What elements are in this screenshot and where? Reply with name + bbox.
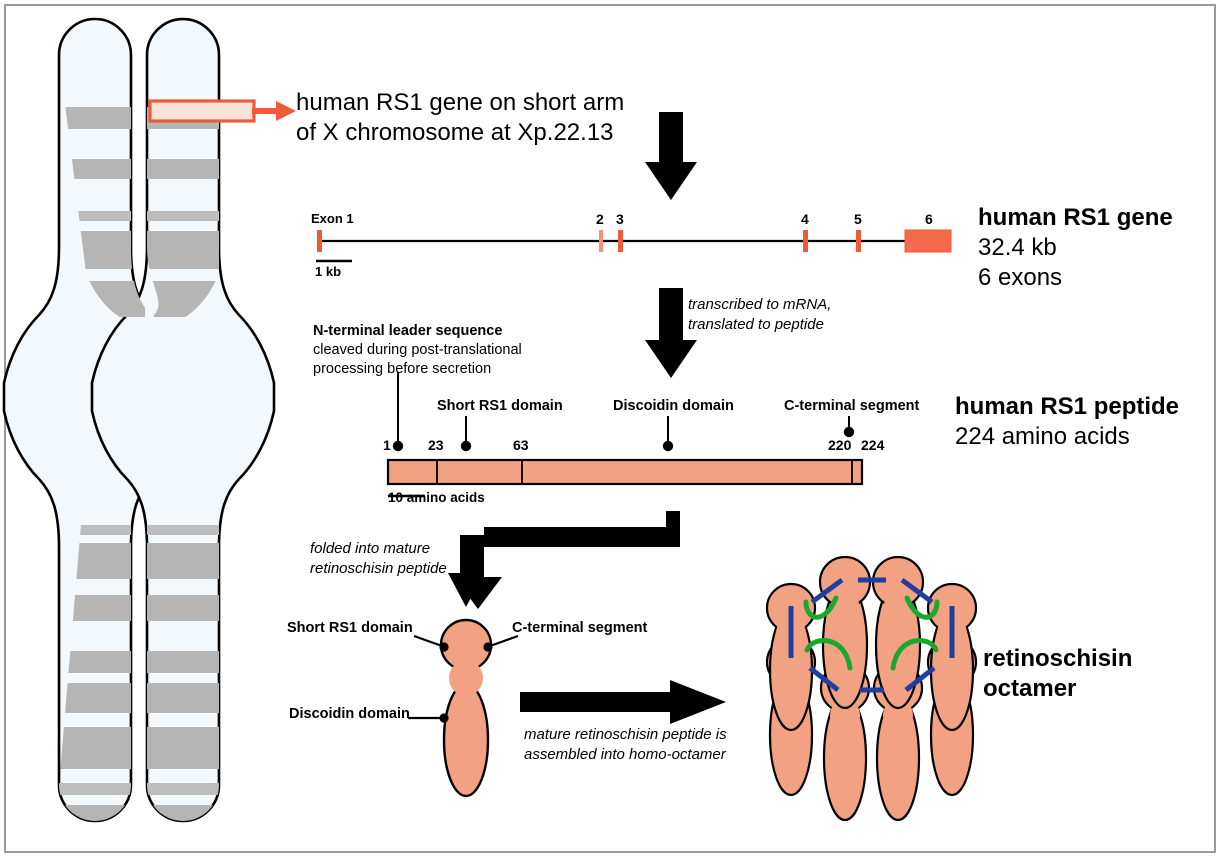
exon-label-1: Exon 1 [311, 211, 354, 227]
locus-callout-line1: human RS1 gene on short arm [296, 88, 624, 117]
retinoschisin-octamer-graphic [750, 540, 1000, 835]
exon-box-6 [905, 230, 951, 252]
monomer-discoidin-body [444, 684, 488, 796]
locus-arrow-icon [252, 101, 296, 121]
gene-scale-label: 1 kb [315, 264, 341, 280]
pointer-leader-dot [393, 441, 403, 451]
monomer-label-discoidin: Discoidin domain [289, 706, 410, 724]
transcription-caption-line2: translated to peptide [688, 316, 824, 334]
exon-label-3: 3 [616, 211, 624, 228]
assembly-caption-line2: assembled into homo-octamer [524, 746, 726, 764]
octamer-title-line2: octamer [983, 674, 1076, 703]
residue-label-220: 220 [828, 437, 851, 454]
assembly-caption-line1: mature retinoschisin peptide is [524, 726, 727, 744]
arrow-assembly [520, 680, 740, 730]
gene-structure-diagram [300, 205, 980, 285]
gene-size: 32.4 kb [978, 233, 1057, 262]
gene-title: human RS1 gene [978, 203, 1173, 232]
exon-label-2: 2 [596, 211, 604, 228]
exon-label-4: 4 [801, 211, 809, 228]
peptide-title: human RS1 peptide [955, 392, 1179, 421]
residue-label-63: 63 [513, 437, 529, 454]
octamer-blue-linkers [791, 580, 952, 690]
figure-canvas: human RS1 gene on short arm of X chromos… [0, 0, 1220, 857]
folding-caption-line2: retinoschisin peptide [310, 560, 447, 578]
exon-tick-3 [618, 230, 623, 252]
pointer-cterm [844, 416, 854, 437]
peptide-bar [388, 460, 862, 484]
exon-label-6: 6 [925, 211, 933, 228]
residue-label-23: 23 [428, 437, 444, 454]
locus-callout-line2: of X chromosome at Xp.22.13 [296, 118, 614, 147]
exon-tick-2 [599, 230, 603, 252]
octamer-title-line1: retinoschisin [983, 644, 1132, 673]
pointer-monomer-discoidin [408, 713, 449, 722]
peptide-structure-diagram [370, 378, 890, 493]
leader-sequence-desc2: processing before secretion [313, 361, 491, 379]
transcription-caption-line1: transcribed to mRNA, [688, 296, 831, 314]
leader-sequence-desc1: cleaved during post-translational [313, 342, 522, 360]
locus-highlight-callout [140, 92, 300, 142]
arrow-to-gene [645, 112, 705, 202]
pointer-short-rs1 [461, 416, 471, 451]
folding-caption-line1: folded into mature [310, 540, 430, 558]
bands-lower-right [138, 525, 233, 857]
peptide-scale-label: 10 amino acids [388, 490, 485, 506]
monomer-label-cterm: C-terminal segment [512, 620, 647, 638]
locus-highlight-box [150, 101, 254, 121]
exon-tick-4 [803, 230, 808, 252]
monomer-label-short-rs1: Short RS1 domain [287, 620, 413, 638]
exon-tick-5 [856, 230, 861, 252]
residue-label-1: 1 [383, 437, 391, 454]
peptide-length: 224 amino acids [955, 422, 1130, 451]
residue-label-224: 224 [861, 437, 884, 454]
gene-exon-count: 6 exons [978, 263, 1062, 292]
exon-tick-1 [317, 230, 322, 252]
arrow-folding [430, 505, 690, 615]
leader-sequence-title: N-terminal leader sequence [313, 323, 502, 341]
exon-label-5: 5 [854, 211, 862, 228]
pointer-discoidin [663, 416, 673, 451]
